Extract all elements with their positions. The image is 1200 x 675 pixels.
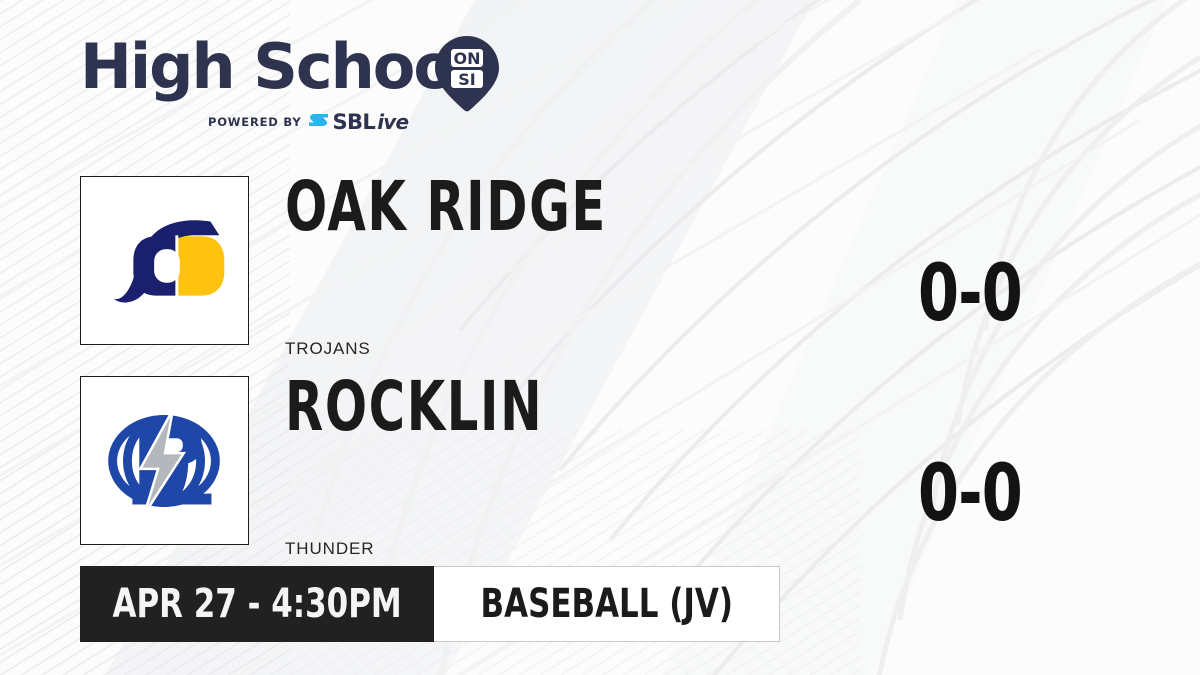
powered-by-label: POWERED BY — [208, 115, 301, 129]
pin-label-on: ON — [454, 49, 481, 68]
team-name: OAK RIDGE — [285, 173, 607, 242]
sblive-wordmark-tail: ive — [377, 110, 408, 134]
game-datetime-label: APR 27 - 4:30PM — [112, 581, 401, 627]
brand-header: High School ON SI POWERED BY SBL ive — [80, 36, 510, 136]
game-info-banner: APR 27 - 4:30PM BASEBALL (JV) — [80, 566, 780, 642]
sblive-logo: SBL ive — [308, 110, 408, 134]
game-datetime-box: APR 27 - 4:30PM — [80, 566, 434, 642]
team-logo-box — [80, 376, 249, 545]
team-logo-box — [80, 176, 249, 345]
rocklin-thunder-logo-icon — [81, 377, 248, 544]
sblive-wordmark-main: SBL — [332, 110, 375, 134]
oak-ridge-trojans-logo-icon — [81, 177, 248, 344]
sblive-s-icon — [308, 113, 330, 132]
onsi-map-pin-icon: ON SI — [426, 32, 508, 114]
team-mascot: TROJANS — [285, 339, 371, 359]
team-record: 0-0 — [915, 455, 1024, 533]
team-mascot: THUNDER — [285, 539, 374, 559]
matchup-graphic: High School ON SI POWERED BY SBL ive — [0, 0, 1200, 675]
pin-label-si: SI — [458, 70, 475, 89]
powered-by-row: POWERED BY SBL ive — [208, 110, 408, 134]
game-sport-box: BASEBALL (JV) — [434, 566, 780, 642]
team-name: ROCKLIN — [285, 373, 543, 442]
game-sport-label: BASEBALL (JV) — [480, 581, 732, 627]
team-record: 0-0 — [915, 255, 1024, 333]
